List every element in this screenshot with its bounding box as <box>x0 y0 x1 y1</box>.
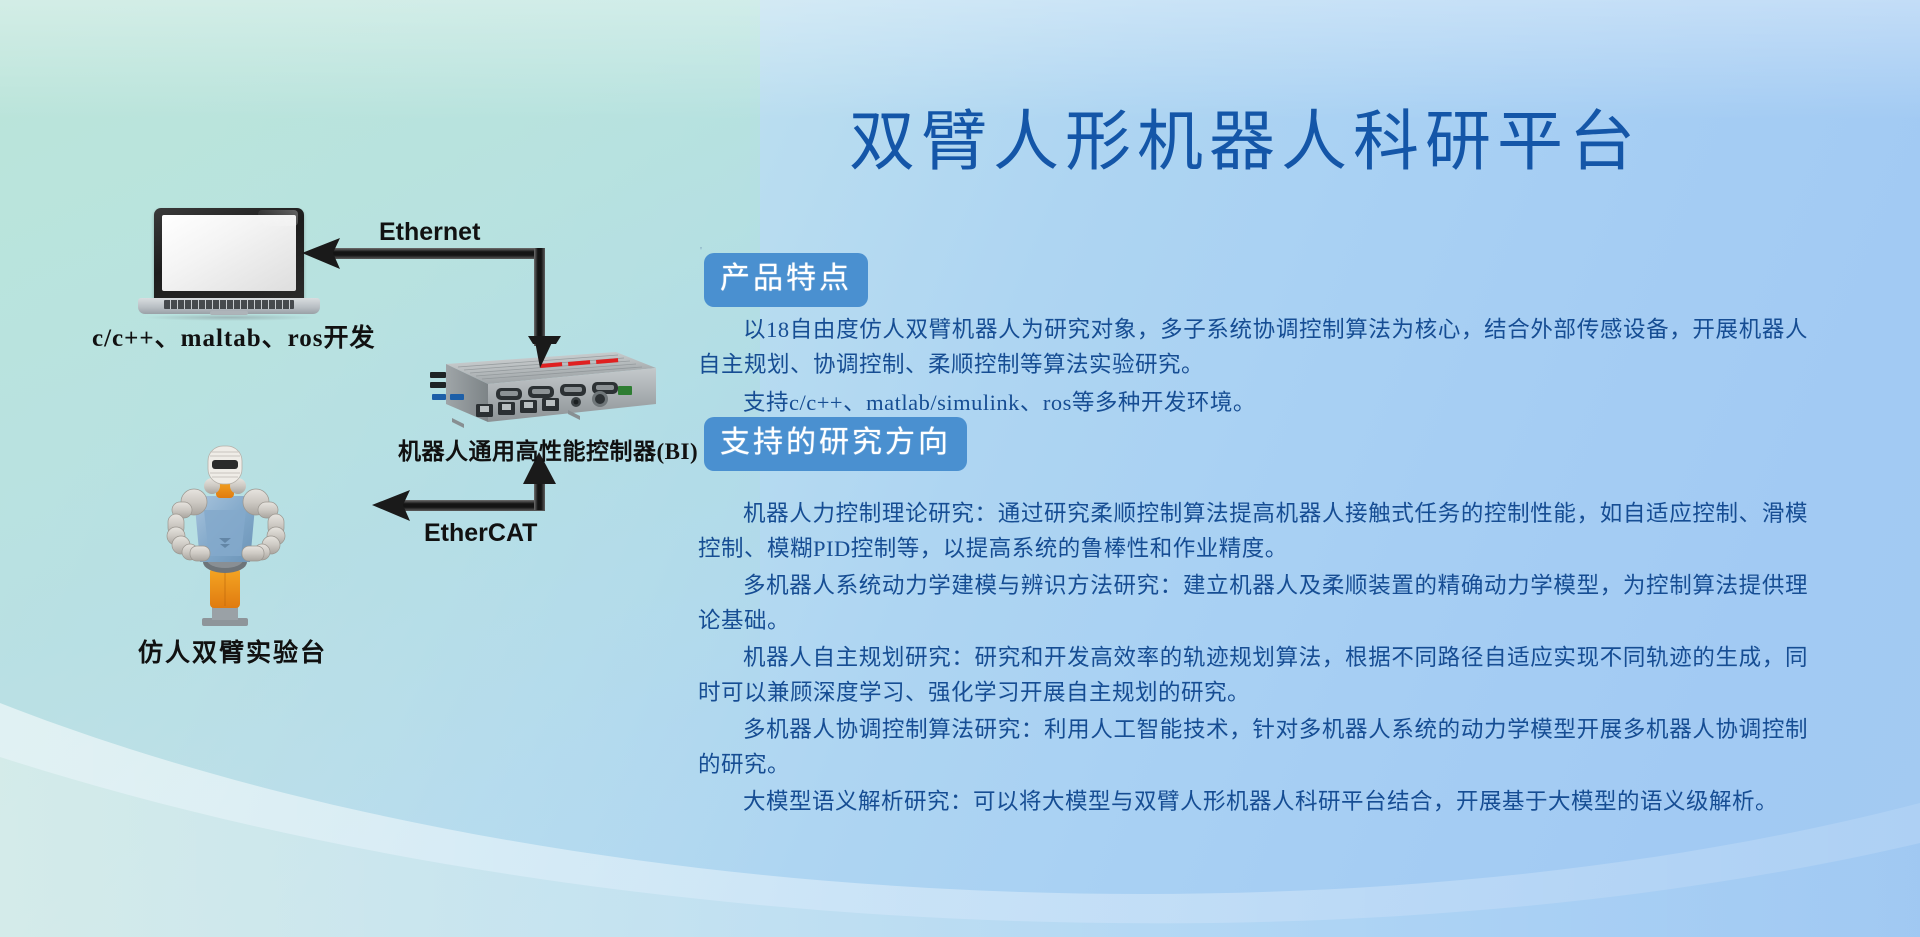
link-label-ethernet: Ethernet <box>379 218 480 247</box>
direction-paragraph: 机器人自主规划研究：研究和开发高效率的轨迹规划算法，根据不同路径自适应实现不同轨… <box>698 640 1808 710</box>
section-tag-directions: 支持的研究方向 <box>704 417 967 471</box>
page-title: 双臂人形机器人科研平台 <box>690 104 1800 182</box>
architecture-diagram: Ethernet EtherCAT c/c++、maltab、ros开发 机器人… <box>0 0 690 937</box>
robot-label: 仿人双臂实验台 <box>138 633 327 669</box>
poster-canvas: Ethernet EtherCAT c/c++、maltab、ros开发 机器人… <box>0 0 1920 937</box>
content-column: 双臂人形机器人科研平台 ' 产品特点 以18自由度仿人双臂机器人为研究对象，多子… <box>690 0 1880 937</box>
features-text: 以18自由度仿人双臂机器人为研究对象，多子系统协调控制算法为核心，结合外部传感设… <box>698 312 1808 420</box>
decorative-mark: ' <box>700 245 702 257</box>
direction-paragraph: 机器人力控制理论研究：通过研究柔顺控制算法提高机器人接触式任务的控制性能，如自适… <box>698 496 1808 566</box>
section-tag-features: 产品特点 <box>704 253 868 307</box>
controller-label: 机器人通用高性能控制器(BI) <box>398 432 698 466</box>
link-label-ethercat: EtherCAT <box>424 519 537 548</box>
connection-arrows <box>0 0 690 937</box>
features-paragraph: 支持c/c++、matlab/simulink、ros等多种开发环境。 <box>698 385 1808 420</box>
direction-paragraph: 大模型语义解析研究：可以将大模型与双臂人形机器人科研平台结合，开展基于大模型的语… <box>698 784 1808 819</box>
laptop-label: c/c++、maltab、ros开发 <box>92 318 376 354</box>
direction-paragraph: 多机器人系统动力学建模与辨识方法研究：建立机器人及柔顺装置的精确动力学模型，为控… <box>698 568 1808 638</box>
direction-paragraph: 多机器人协调控制算法研究：利用人工智能技术，针对多机器人系统的动力学模型开展多机… <box>698 712 1808 782</box>
directions-text: 机器人力控制理论研究：通过研究柔顺控制算法提高机器人接触式任务的控制性能，如自适… <box>698 496 1808 821</box>
features-paragraph: 以18自由度仿人双臂机器人为研究对象，多子系统协调控制算法为核心，结合外部传感设… <box>698 312 1808 382</box>
